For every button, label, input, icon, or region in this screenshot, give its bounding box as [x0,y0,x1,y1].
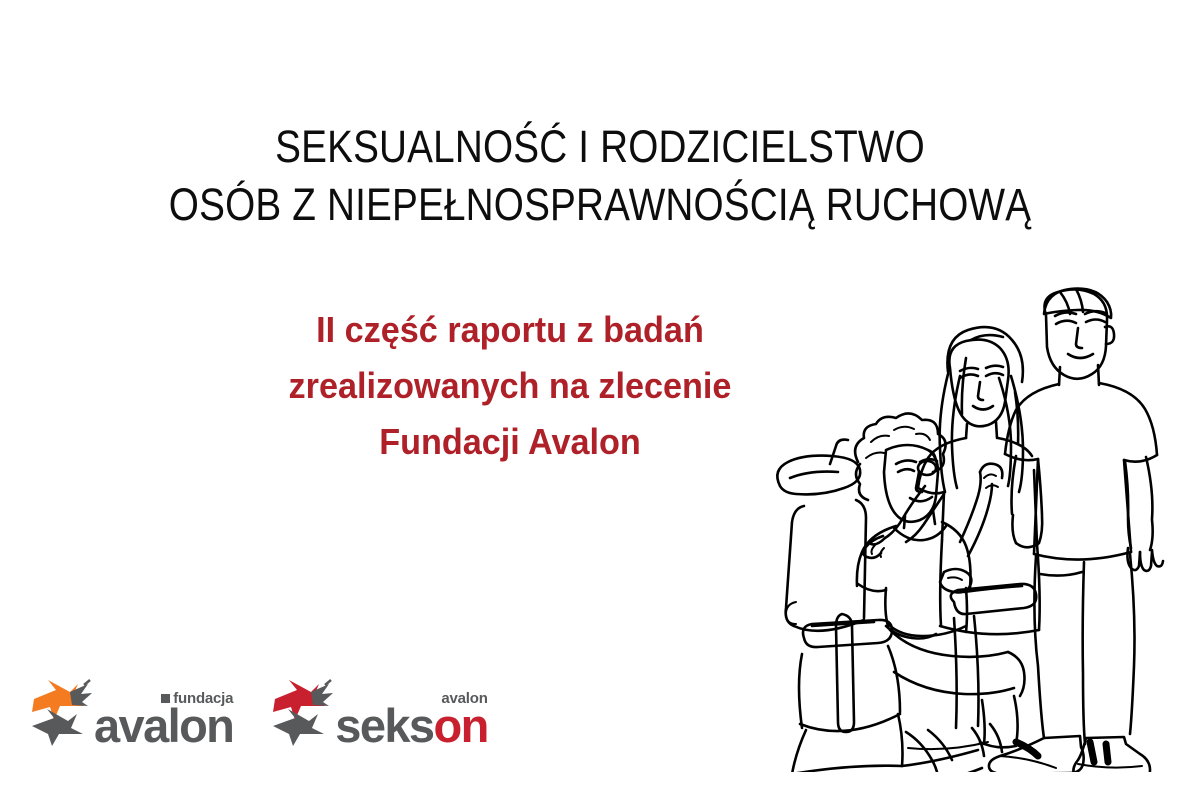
bird-lightning-icon [26,676,100,748]
illustration-svg [768,272,1188,772]
logo-avalon-wordmark: avalon [94,704,233,747]
logo-avalon[interactable]: fundacja avalon [26,676,233,748]
logo-sekson-wordmark: sekson [335,704,487,747]
subtitle-line-3: Fundacji Avalon [149,414,871,470]
subtitle-line-1: II część raportu z badań [149,302,871,358]
logo-avalon-text: fundacja avalon [94,691,233,748]
slide-canvas: SEKSUALNOŚĆ I RODZICIELSTWO OSÓB Z NIEPE… [0,0,1200,800]
illustration-three-people-wheelchair [768,272,1188,772]
bird-lightning-icon [267,676,341,748]
subtitle-line-2: zrealizowanych na zlecenie [149,358,871,414]
title-line-2: OSÓB Z NIEPEŁNOSPRAWNOŚCIĄ RUCHOWĄ [84,176,1116,234]
page-title: SEKSUALNOŚĆ I RODZICIELSTWO OSÓB Z NIEPE… [0,118,1200,234]
title-line-1: SEKSUALNOŚĆ I RODZICIELSTWO [84,118,1116,176]
logo-strip: fundacja avalon avalon sekson [26,676,488,748]
logo-sekson-text: avalon sekson [335,691,487,748]
logo-sekson-word-accent: on [433,699,487,752]
logo-bullet-icon [161,694,170,703]
logo-sekson-word-plain: seks [335,699,433,752]
logo-sekson[interactable]: avalon sekson [267,676,487,748]
